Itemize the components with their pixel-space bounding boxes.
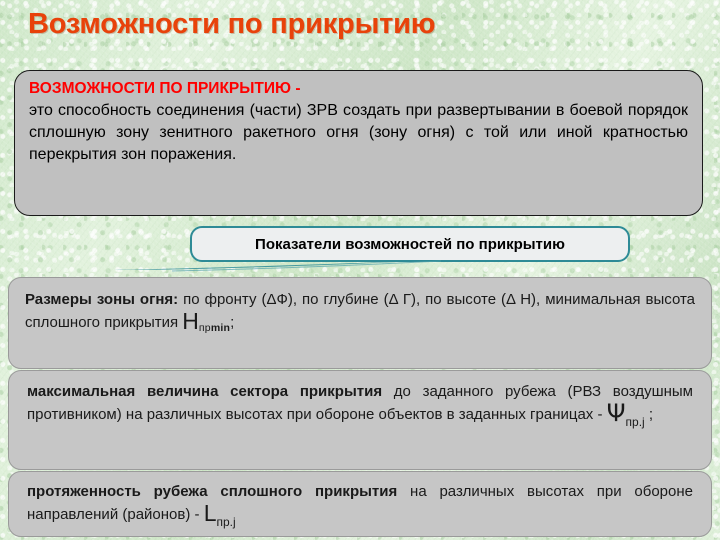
panel-sector-bold-lead: максимальная величина сектора прикрытия xyxy=(27,383,382,400)
panel-size-tail: ; xyxy=(230,314,234,331)
panel-length-subscript: пр.j xyxy=(216,515,235,529)
page-title: Возможности по прикрытию xyxy=(28,8,435,41)
slide-canvas: Возможности по прикрытию ВОЗМОЖНОСТИ ПО … xyxy=(0,0,720,540)
panel-size-bold-lead: Размеры зоны огня: xyxy=(25,291,178,308)
definition-heading: ВОЗМОЖНОСТИ ПО ПРИКРЫТИЮ - xyxy=(29,80,688,98)
definition-body-text: это способность соединения (части) ЗРВ с… xyxy=(29,100,688,166)
panel-size-subscript-bold: min xyxy=(211,322,230,334)
panel-size-subscript-regular: пр xyxy=(199,322,211,334)
panel-size-symbol: Н xyxy=(182,308,199,334)
panel-size-text: Размеры зоны огня: по фронту (ΔФ), по гл… xyxy=(25,289,695,336)
indicators-callout-box: Показатели возможностей по прикрытию xyxy=(190,226,630,262)
panel-size-of-fire-zone: Размеры зоны огня: по фронту (ΔФ), по гл… xyxy=(8,277,712,369)
panel-length-of-continuous-cover: протяженность рубежа сплошного прикрытия… xyxy=(8,471,712,537)
panel-length-bold-lead: протяженность рубежа сплошного прикрытия xyxy=(27,483,397,500)
panel-sector-subscript: пр.j xyxy=(626,415,645,429)
panel-sector-tail: ; xyxy=(649,406,653,423)
panel-length-symbol: L xyxy=(204,500,217,526)
indicators-callout-label: Показатели возможностей по прикрытию xyxy=(255,236,565,253)
panel-sector-symbol: Ψ xyxy=(607,399,626,427)
panel-max-sector-of-cover: максимальная величина сектора прикрытия … xyxy=(8,370,712,470)
panel-sector-text: максимальная величина сектора прикрытия … xyxy=(27,381,693,428)
definition-box: ВОЗМОЖНОСТИ ПО ПРИКРЫТИЮ - это способнос… xyxy=(14,70,703,216)
panel-length-text: протяженность рубежа сплошного прикрытия… xyxy=(27,481,693,528)
